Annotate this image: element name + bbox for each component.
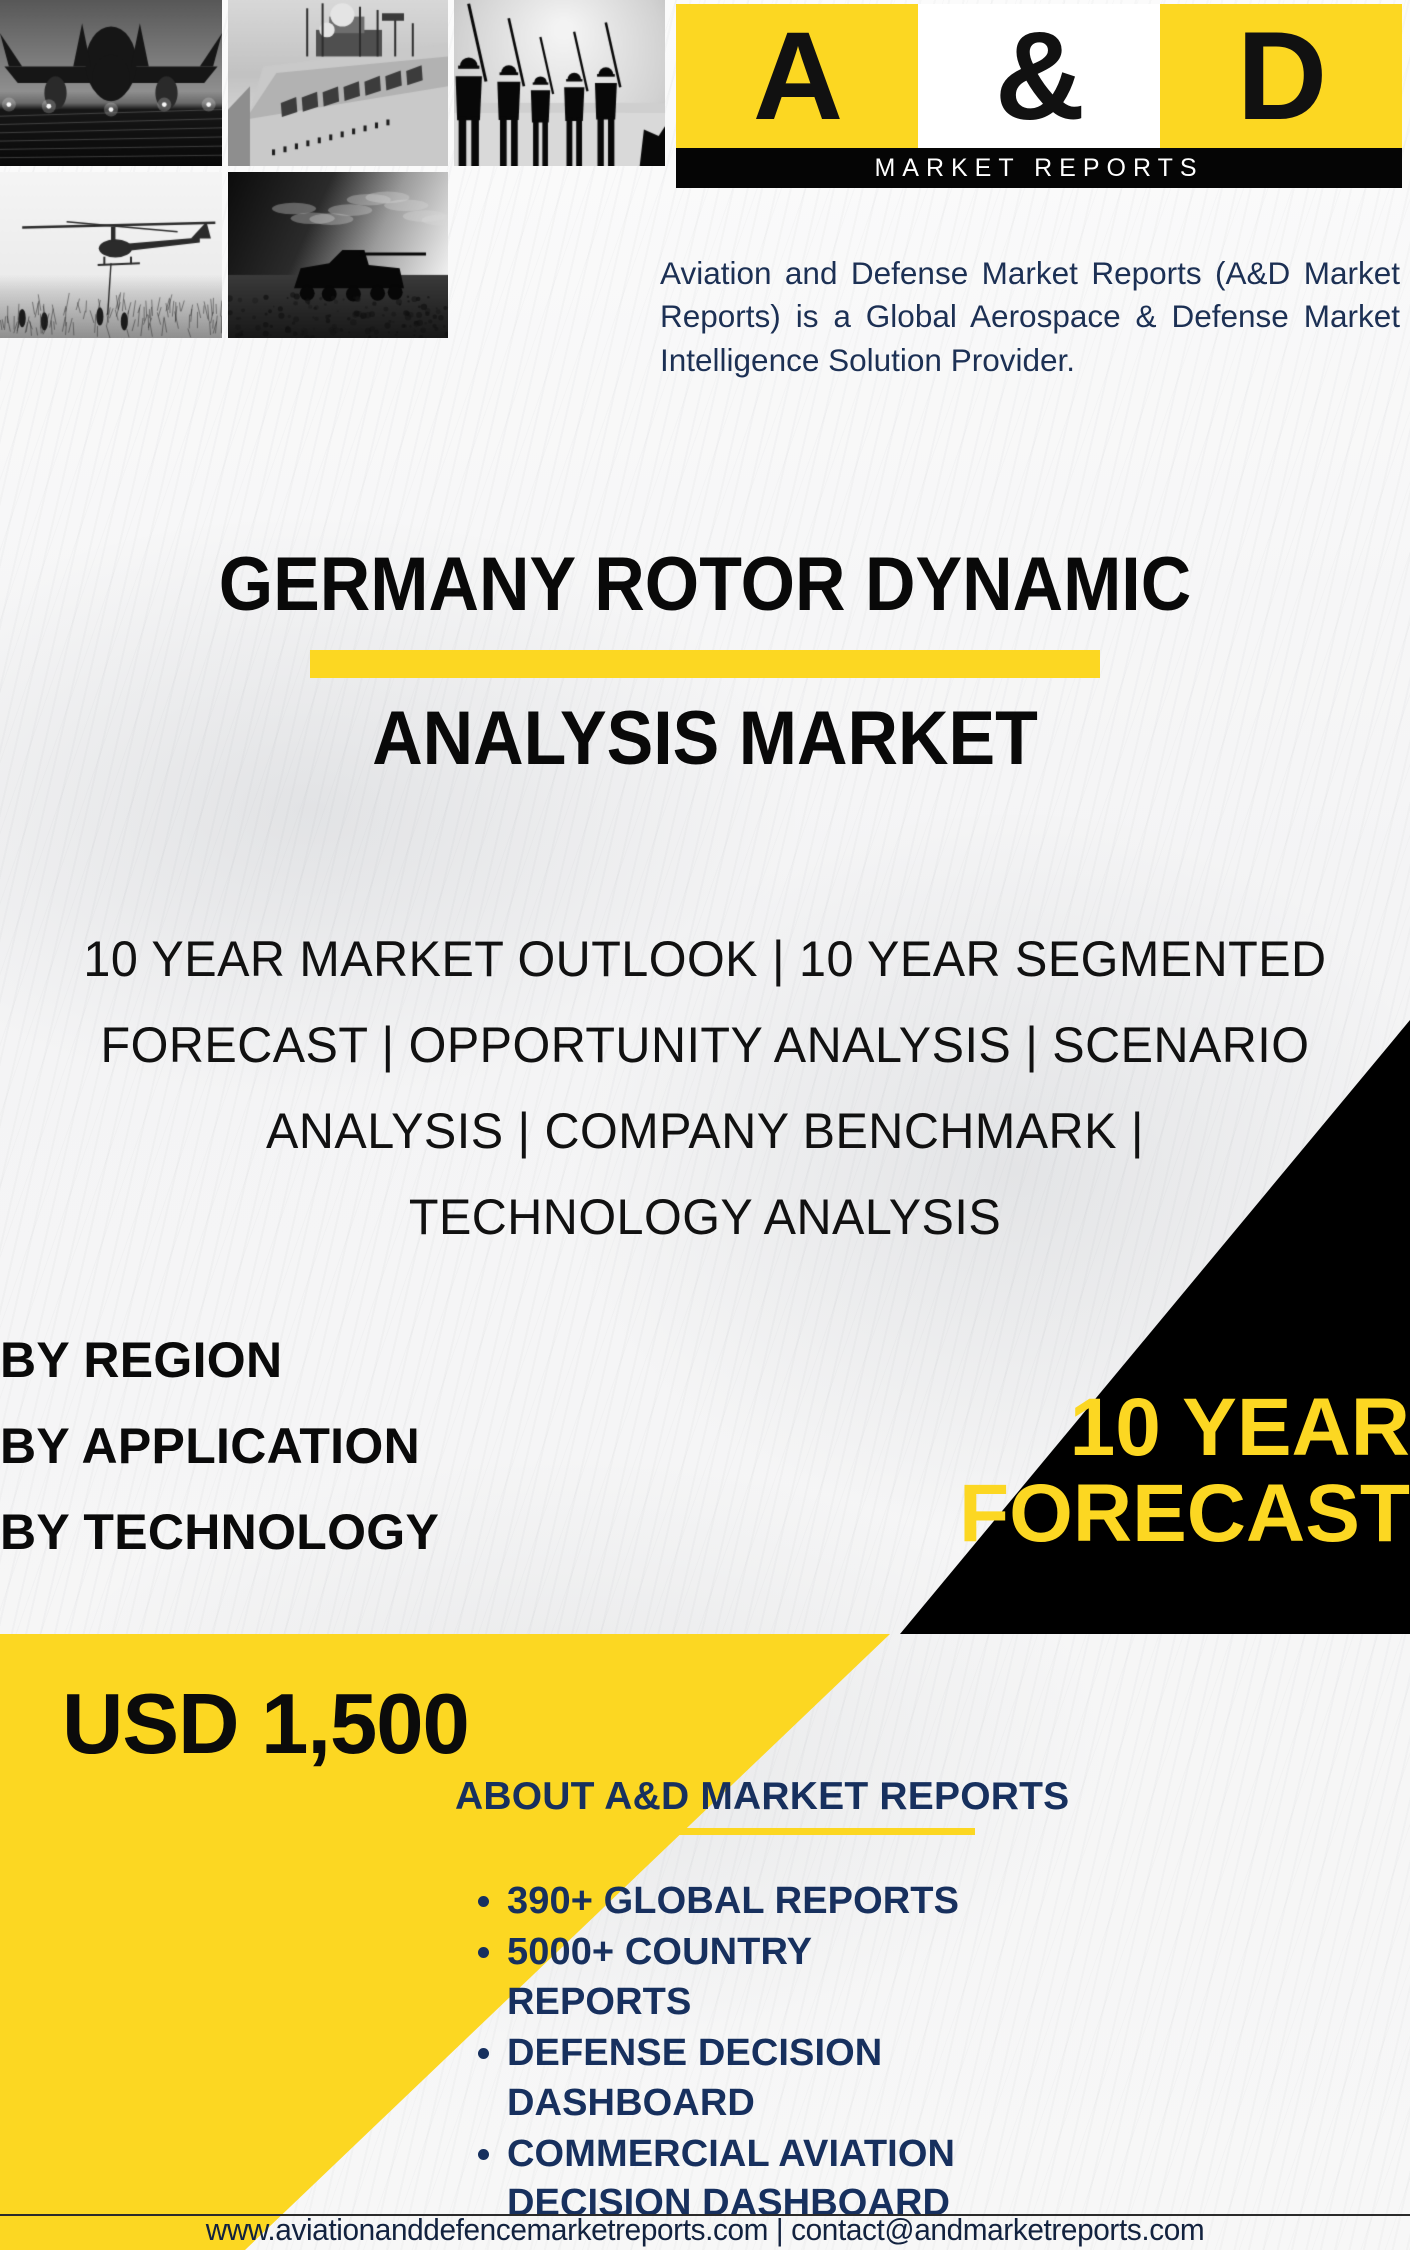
page-title: GERMANY ROTOR DYNAMIC ANALYSIS MARKET: [0, 546, 1410, 777]
price-value: USD 1,500: [62, 1682, 469, 1767]
list-item: DEFENSE DECISION DASHBOARD: [507, 2029, 975, 2128]
title-line-2: ANALYSIS MARKET: [56, 700, 1353, 778]
subtitle-line-2: FORECAST | OPPORTUNITY ANALYSIS | SCENAR…: [21, 1002, 1389, 1088]
company-intro-text: Aviation and Defense Market Reports (A&D…: [660, 252, 1400, 382]
photo-helicopter-over-field: [0, 172, 222, 338]
segmentation-list: BY REGION BY APPLICATION BY TECHNOLOGY: [0, 1335, 439, 1593]
about-heading: ABOUT A&D MARKET REPORTS: [455, 1775, 975, 1819]
list-item: 5000+ COUNTRY REPORTS: [507, 1928, 975, 2027]
logo-letter-tiles: A & D: [676, 4, 1402, 148]
title-line-1: GERMANY ROTOR DYNAMIC: [56, 546, 1353, 624]
forecast-badge: 10 YEAR FORECAST: [810, 1385, 1410, 1557]
subtitle-line-3: ANALYSIS | COMPANY BENCHMARK |: [21, 1088, 1389, 1174]
about-section: ABOUT A&D MARKET REPORTS 390+ GLOBAL REP…: [455, 1775, 975, 2231]
subtitle-line-4: TECHNOLOGY ANALYSIS: [21, 1174, 1389, 1260]
title-underline-bar: [310, 650, 1100, 678]
photo-naval-warship-superstructure: [228, 0, 448, 166]
brand-logo: A & D MARKET REPORTS: [676, 4, 1402, 188]
subtitle-line-1: 10 YEAR MARKET OUTLOOK | 10 YEAR SEGMENT…: [21, 916, 1389, 1002]
logo-letter-a: A: [676, 4, 918, 148]
footer-contact[interactable]: www.aviationanddefencemarketreports.com …: [28, 2212, 1382, 2250]
photo-armored-vehicle-at-dusk: [228, 172, 448, 338]
segment-by-region: BY REGION: [0, 1335, 439, 1385]
segment-by-technology: BY TECHNOLOGY: [0, 1507, 439, 1557]
about-bullet-list: 390+ GLOBAL REPORTS 5000+ COUNTRY REPORT…: [455, 1877, 975, 2229]
logo-subtitle: MARKET REPORTS: [676, 148, 1402, 188]
logo-letter-ampersand: &: [918, 4, 1160, 148]
photo-fighter-jet-on-carrier-deck: [0, 0, 222, 166]
list-item: 390+ GLOBAL REPORTS: [507, 1877, 975, 1926]
report-features-subtitle: 10 YEAR MARKET OUTLOOK | 10 YEAR SEGMENT…: [21, 916, 1389, 1260]
poster-root: A & D MARKET REPORTS Aviation and Defens…: [0, 0, 1410, 2250]
logo-letter-d: D: [1160, 4, 1402, 148]
segment-by-application: BY APPLICATION: [0, 1421, 439, 1471]
about-heading-underline: [455, 1828, 975, 1835]
photo-soldiers-silhouette-patrol: [454, 0, 665, 166]
forecast-badge-line-2: FORECAST: [810, 1471, 1410, 1557]
forecast-badge-line-1: 10 YEAR: [810, 1385, 1410, 1471]
photo-strip: [0, 0, 665, 338]
